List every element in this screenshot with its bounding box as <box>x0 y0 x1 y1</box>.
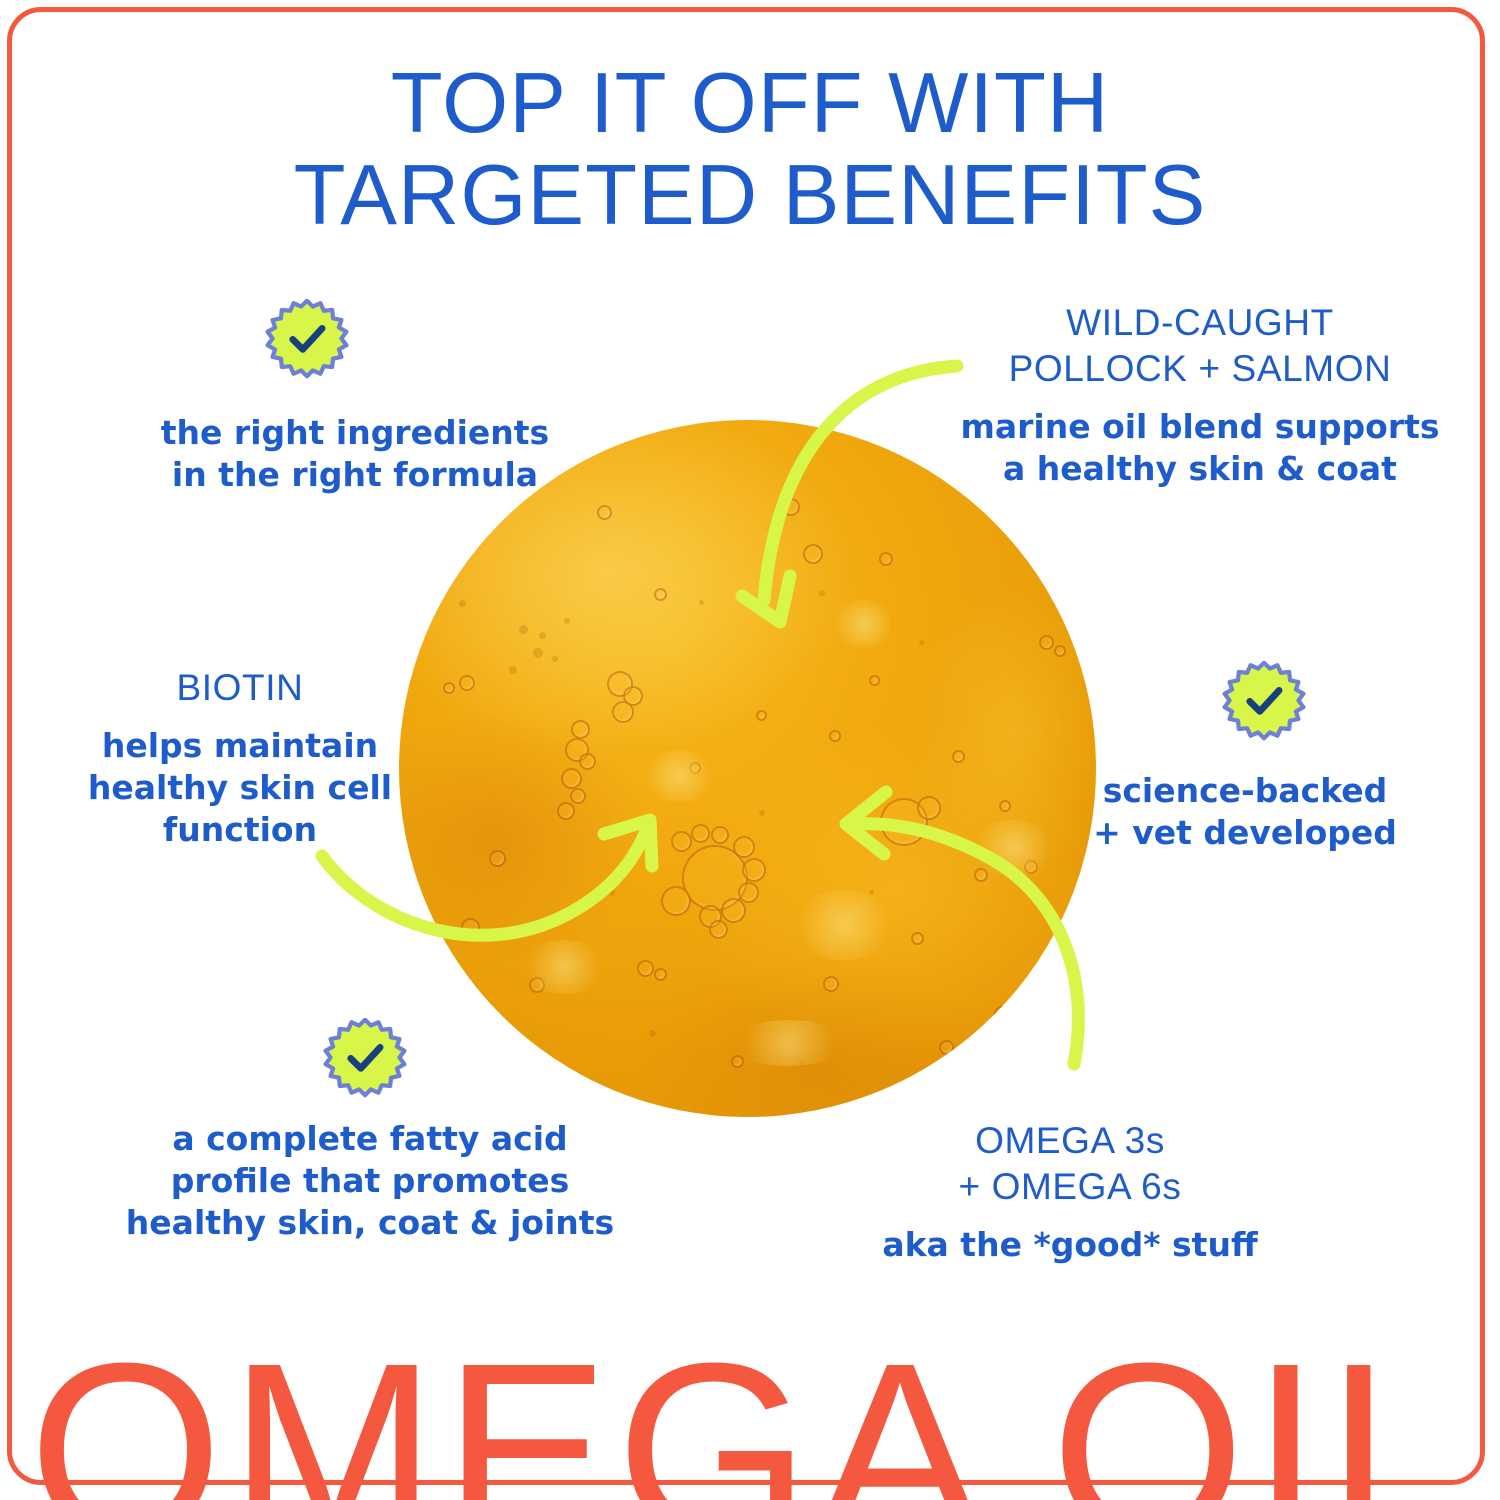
page-title-line-1: TOP IT OFF WITH <box>0 58 1500 150</box>
omega-oil-circle-image <box>399 420 1096 1117</box>
callout-wild-caught-heading: WILD-CAUGHT POLLOCK + SALMON <box>900 300 1500 392</box>
check-seal-icon <box>265 299 349 383</box>
infographic-page: TOP IT OFF WITH TARGETED BENEFITS <box>0 0 1500 1500</box>
oil-bubbles-layer <box>399 420 1096 1117</box>
callout-omega-heading: OMEGA 3s + OMEGA 6s <box>810 1118 1330 1210</box>
callout-biotin-body: helps maintain healthy skin cell functio… <box>30 725 450 851</box>
check-seal-icon-mid-right <box>1222 661 1306 745</box>
callout-bottom-left-text: a complete fatty acid profile that promo… <box>60 1118 680 1244</box>
callout-wild-caught: WILD-CAUGHT POLLOCK + SALMON marine oil … <box>900 300 1500 490</box>
omega-oil-wordmark: OMEGA OIL <box>0 1326 1500 1500</box>
callout-top-left-text: the right ingredients in the right formu… <box>25 412 685 496</box>
check-seal-icon <box>1222 661 1306 745</box>
callout-mid-right-text: science-backed + vet developed <box>1000 770 1490 854</box>
check-seal-icon-top-left <box>265 299 349 383</box>
callout-biotin: BIOTIN helps maintain healthy skin cell … <box>30 665 450 851</box>
check-seal-icon <box>323 1018 407 1102</box>
page-title: TOP IT OFF WITH TARGETED BENEFITS <box>0 58 1500 242</box>
check-seal-icon-bottom-left <box>323 1018 407 1102</box>
callout-wild-caught-body: marine oil blend supports a healthy skin… <box>900 406 1500 490</box>
callout-omega: OMEGA 3s + OMEGA 6s aka the *good* stuff <box>810 1118 1330 1266</box>
callout-omega-body: aka the *good* stuff <box>810 1224 1330 1266</box>
callout-biotin-heading: BIOTIN <box>30 665 450 711</box>
page-title-line-2: TARGETED BENEFITS <box>0 150 1500 242</box>
